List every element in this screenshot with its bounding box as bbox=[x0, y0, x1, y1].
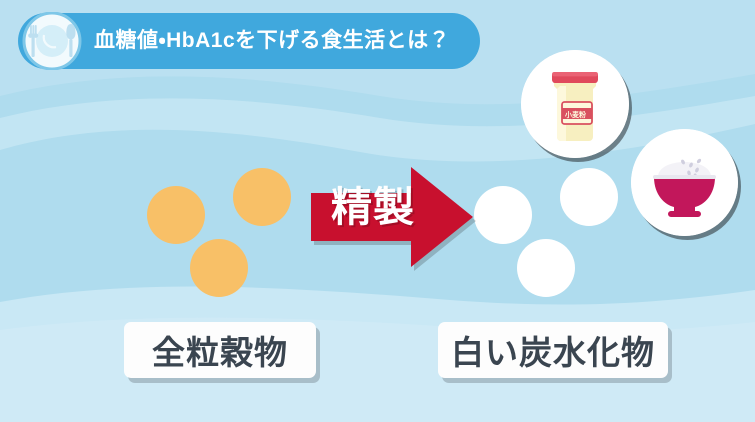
refined-grain-circle bbox=[517, 239, 575, 297]
whole-grain-label-box: 全粒穀物 bbox=[124, 322, 316, 378]
flour-jar-badge: 小麦粉 bbox=[521, 50, 629, 158]
rice-bowl-icon bbox=[631, 129, 738, 236]
svg-text:小麦粉: 小麦粉 bbox=[564, 110, 586, 119]
whole-grain-circle bbox=[233, 168, 291, 226]
white-carb-label-box: 白い炭水化物 bbox=[438, 322, 668, 378]
page-title: 血糖値・HbA1cを下げる食生活とは？ bbox=[94, 13, 450, 69]
flour-jar-icon: 小麦粉 bbox=[521, 50, 629, 158]
refined-grain-circle bbox=[474, 186, 532, 244]
arrow-label: 精製 bbox=[318, 176, 428, 238]
whole-grain-label-text: 全粒穀物 bbox=[152, 326, 288, 374]
slide-canvas: 血糖値・HbA1cを下げる食生活とは？ 精製 全粒穀物 白い炭水化物 小麦粉 bbox=[0, 0, 755, 422]
refined-grain-circle bbox=[560, 168, 618, 226]
whole-grain-circle bbox=[190, 239, 248, 297]
rice-bowl-badge bbox=[631, 129, 738, 236]
whole-grain-circle bbox=[147, 186, 205, 244]
plate-fork-knife-icon bbox=[19, 12, 85, 70]
white-carb-label-text: 白い炭水化物 bbox=[451, 326, 655, 374]
